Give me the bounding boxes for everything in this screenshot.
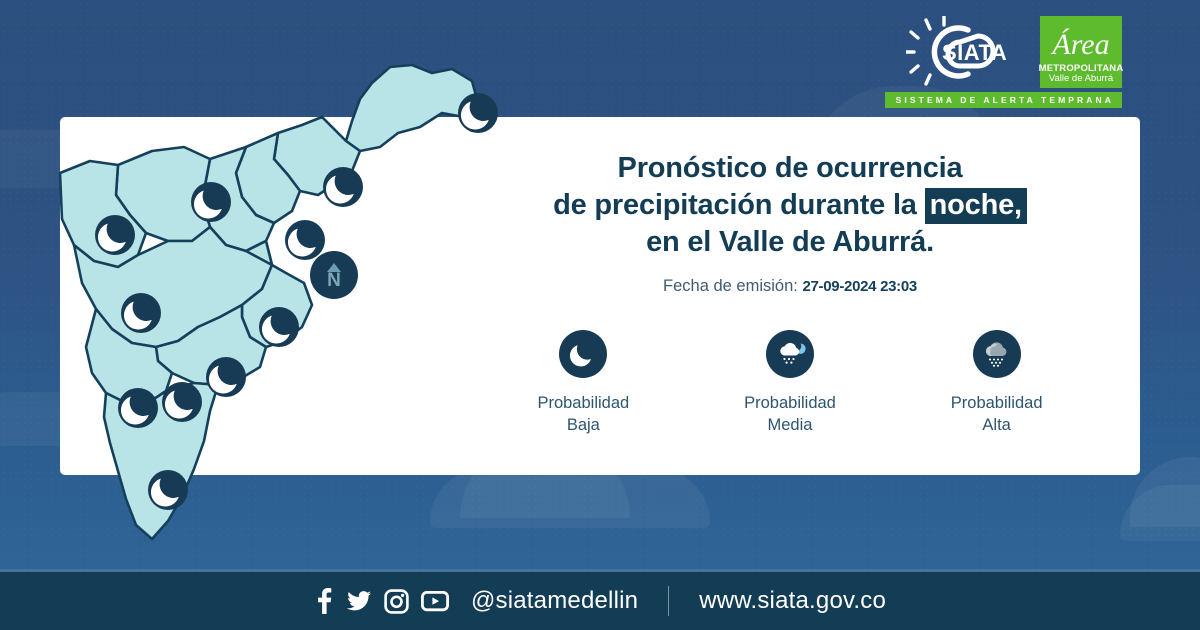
moon-icon	[323, 167, 363, 207]
siata-sun-cloud-icon: SIATA	[906, 16, 1026, 88]
title-line-2-text: de precipitación durante la	[553, 189, 917, 221]
social-handle[interactable]: @siatamedellin	[471, 587, 638, 615]
legend-label-line1: Probabilidad	[705, 392, 875, 414]
legend-label-line2: Alta	[912, 414, 1082, 436]
page-title: Pronóstico de ocurrencia de precipitació…	[470, 150, 1110, 261]
footer-bar: @siatamedellin www.siata.gov.co	[0, 572, 1200, 630]
legend-item-alta: Probabilidad Alta	[912, 330, 1082, 437]
emission-date-value: 27-09-2024 23:03	[802, 278, 916, 295]
legend-label-baja: Probabilidad Baja	[498, 392, 668, 437]
probability-legend: Probabilidad Baja Probabilidad Media	[480, 330, 1100, 437]
legend-item-baja: Probabilidad Baja	[498, 330, 668, 437]
map-marker-bello[interactable]	[95, 215, 135, 255]
map-marker-caldas[interactable]	[148, 470, 188, 510]
compass-label: N	[327, 273, 341, 288]
legend-label-line1: Probabilidad	[912, 392, 1082, 414]
area-logo-valle: Valle de Aburrá	[1049, 74, 1113, 85]
area-script-icon: Área	[1040, 18, 1122, 64]
map-marker-itagui[interactable]	[206, 357, 246, 397]
moon-icon	[95, 215, 135, 255]
moon-icon	[162, 382, 202, 422]
map-marker-medellin[interactable]	[121, 293, 161, 333]
compass-disc: N	[310, 251, 358, 299]
youtube-icon[interactable]	[421, 590, 449, 612]
cloud-rain-moon-icon	[766, 330, 814, 378]
title-line-1: Pronóstico de ocurrencia	[470, 150, 1110, 187]
compass-north-indicator: N	[310, 251, 358, 299]
title-line-2: de precipitación durante la noche,	[470, 187, 1110, 224]
area-metropolitana-logo: Área METROPOLITANA Valle de Aburrá	[1040, 16, 1122, 88]
logo-group: SIATA Área METROPOLITANA Valle de Aburrá	[906, 16, 1122, 88]
moon-icon	[121, 293, 161, 333]
twitter-icon[interactable]	[346, 588, 372, 614]
forecast-panel: Pronóstico de ocurrencia de precipitació…	[470, 150, 1110, 296]
moon-icon	[206, 357, 246, 397]
map-marker-barbosa[interactable]	[458, 93, 498, 133]
emission-date-label: Fecha de emisión:	[663, 277, 798, 295]
siata-logo: SIATA	[906, 16, 1026, 88]
social-links	[314, 588, 449, 614]
moon-icon	[148, 470, 188, 510]
valle-de-aburra-map: N	[60, 55, 480, 565]
map-marker-envigado[interactable]	[259, 307, 299, 347]
title-highlight-noche: noche,	[925, 188, 1027, 224]
svg-text:SIATA: SIATA	[942, 40, 1007, 65]
infographic-root: SIATA Área METROPOLITANA Valle de Aburrá…	[0, 0, 1200, 630]
map-marker-la-estrella[interactable]	[118, 388, 158, 428]
legend-label-alta: Probabilidad Alta	[912, 392, 1082, 437]
cloud-heavy-rain-icon	[973, 330, 1021, 378]
facebook-icon[interactable]	[314, 588, 334, 614]
moon-icon	[118, 388, 158, 428]
emission-date: Fecha de emisión: 27-09-2024 23:03	[470, 277, 1110, 296]
moon-icon	[458, 93, 498, 133]
footer-divider	[668, 586, 669, 616]
moon-icon	[191, 182, 231, 222]
legend-label-line2: Baja	[498, 414, 668, 436]
instagram-icon[interactable]	[384, 589, 409, 614]
moon-icon	[559, 330, 607, 378]
legend-item-media: Probabilidad Media	[705, 330, 875, 437]
legend-label-line2: Media	[705, 414, 875, 436]
website-url[interactable]: www.siata.gov.co	[699, 587, 886, 615]
legend-label-line1: Probabilidad	[498, 392, 668, 414]
map-marker-san-pedro[interactable]	[191, 182, 231, 222]
legend-label-media: Probabilidad Media	[705, 392, 875, 437]
map-marker-girardota[interactable]	[323, 167, 363, 207]
title-line-3: en el Valle de Aburrá.	[470, 224, 1110, 261]
map-marker-sabaneta[interactable]	[162, 382, 202, 422]
moon-icon	[259, 307, 299, 347]
svg-text:Área: Área	[1050, 28, 1109, 61]
alert-system-banner: SISTEMA DE ALERTA TEMPRANA	[885, 92, 1122, 108]
